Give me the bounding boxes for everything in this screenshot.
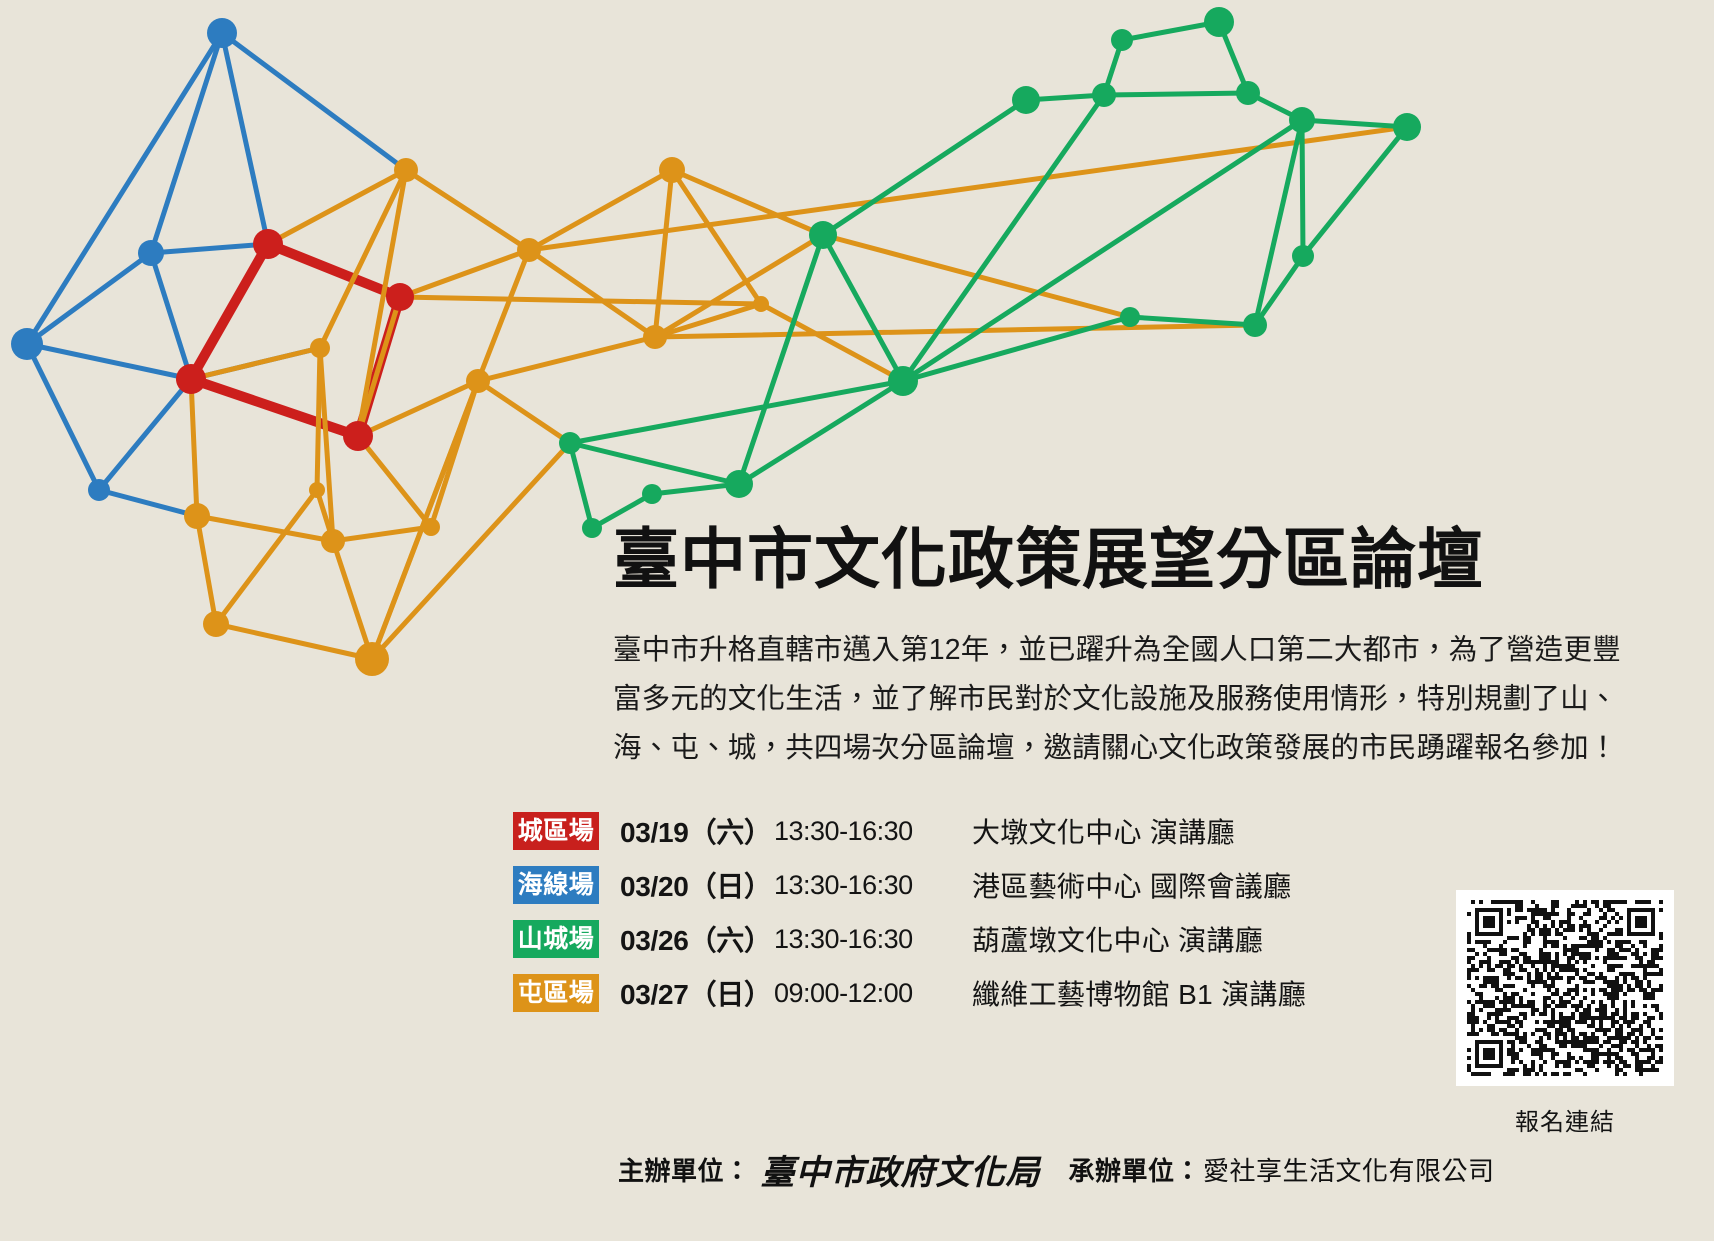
qr-label: 報名連結: [1456, 1102, 1674, 1137]
session-venue: 港區藝術中心 國際會議廳: [972, 865, 1413, 905]
qr-code-box[interactable]: [1456, 890, 1674, 1086]
session-venue: 葫蘆墩文化中心 演講廳: [972, 919, 1413, 959]
session-venue: 大墩文化中心 演講廳: [972, 811, 1413, 851]
session-venue: 纖維工藝博物館 B1 演講廳: [972, 973, 1413, 1013]
status-badge: 城區場: [513, 812, 599, 850]
table-row: 海線場 03/20（日） 13:30-16:30 港區藝術中心 國際會議廳: [513, 859, 1413, 911]
session-time: 13:30-16:30: [774, 924, 944, 955]
session-date: 03/26（六）: [620, 919, 768, 959]
poster-root: 臺中市文化政策展望分區論壇 臺中市升格直轄市邁入第12年，並已躍升為全國人口第二…: [0, 0, 1714, 1241]
session-date: 03/27（日）: [620, 973, 768, 1013]
session-time: 13:30-16:30: [774, 870, 944, 901]
schedule-list: 城區場 03/19（六） 13:30-16:30 大墩文化中心 演講廳 海線場 …: [513, 805, 1413, 1021]
footer-credits: 主辦單位： 臺中市政府文化局 承辦單位： 愛社享生活文化有限公司: [618, 1145, 1638, 1194]
table-row: 山城場 03/26（六） 13:30-16:30 葫蘆墩文化中心 演講廳: [513, 913, 1413, 965]
session-time: 09:00-12:00: [774, 978, 944, 1009]
session-time: 13:30-16:30: [774, 816, 944, 847]
poster-description: 臺中市升格直轄市邁入第12年，並已躍升為全國人口第二大都市，為了營造更豐富多元的…: [613, 626, 1623, 773]
executor-name: 愛社享生活文化有限公司: [1203, 1151, 1495, 1188]
session-date: 03/19（六）: [620, 811, 768, 851]
content-block: 臺中市文化政策展望分區論壇 臺中市升格直轄市邁入第12年，並已躍升為全國人口第二…: [613, 525, 1703, 773]
session-date: 03/20（日）: [620, 865, 768, 905]
host-label: 主辦單位：: [618, 1151, 751, 1188]
registration-qr[interactable]: 報名連結: [1456, 890, 1674, 1137]
page-title: 臺中市文化政策展望分區論壇: [613, 525, 1703, 594]
table-row: 城區場 03/19（六） 13:30-16:30 大墩文化中心 演講廳: [513, 805, 1413, 857]
host-name: 臺中市政府文化局: [761, 1145, 1041, 1194]
executor-label: 承辦單位：: [1069, 1151, 1202, 1188]
status-badge: 山城場: [513, 920, 599, 958]
table-row: 屯區場 03/27（日） 09:00-12:00 纖維工藝博物館 B1 演講廳: [513, 967, 1413, 1019]
status-badge: 屯區場: [513, 974, 599, 1012]
status-badge: 海線場: [513, 866, 599, 904]
qr-code-icon[interactable]: [1467, 900, 1663, 1076]
